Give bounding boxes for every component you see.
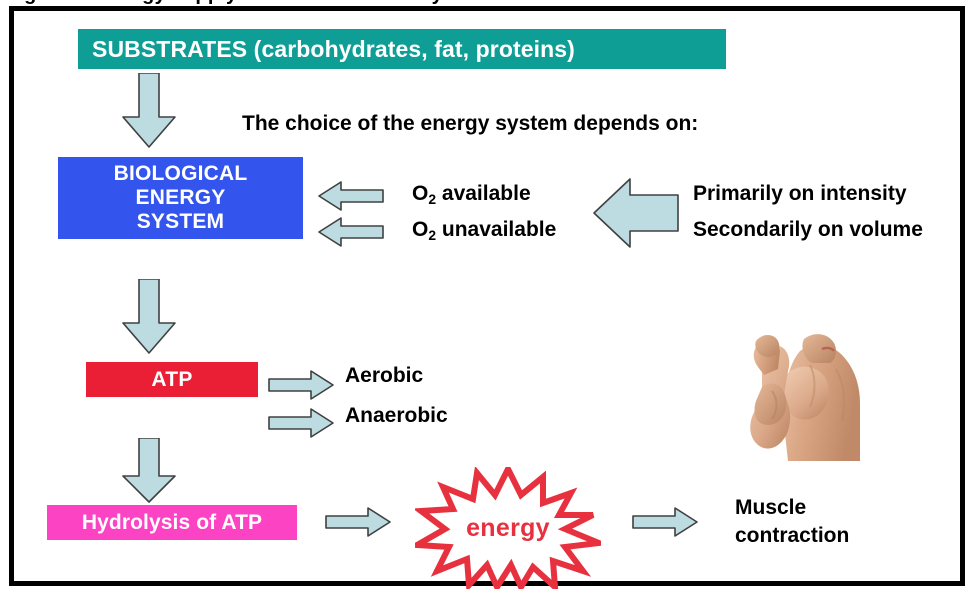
box-atp: ATP bbox=[86, 362, 258, 397]
bes-line-3: SYSTEM bbox=[137, 210, 225, 233]
label-o2-available: O2 available bbox=[412, 181, 531, 206]
heading-choice-of-energy-system: The choice of the energy system depends … bbox=[242, 111, 698, 136]
muscle-line-1: Muscle bbox=[735, 496, 806, 519]
o2-available-subscript: 2 bbox=[428, 191, 436, 207]
slide-canvas: Figure 1. Energy supply for muscular act… bbox=[0, 0, 980, 598]
arrow-right-atp-to-aerobic-icon bbox=[267, 369, 335, 401]
arrow-left-o2-unavailable-icon bbox=[317, 216, 385, 248]
starburst-energy-label: energy bbox=[415, 467, 601, 589]
label-anaerobic: Anaerobic bbox=[345, 403, 448, 428]
box-hydrolysis-label: Hydrolysis of ATP bbox=[82, 511, 262, 535]
label-o2-unavailable: O2 unavailable bbox=[412, 217, 556, 242]
bes-line-1: BIOLOGICAL bbox=[114, 162, 248, 185]
box-hydrolysis-of-atp: Hydrolysis of ATP bbox=[47, 505, 297, 540]
arrow-right-atp-to-anaerobic-icon bbox=[267, 407, 335, 439]
label-primarily-on-intensity: Primarily on intensity bbox=[693, 181, 907, 206]
o2-available-rest: available bbox=[436, 182, 531, 205]
box-substrates: SUBSTRATES (carbohydrates, fat, proteins… bbox=[78, 29, 726, 69]
box-atp-label: ATP bbox=[151, 368, 192, 392]
arrow-left-o2-available-icon bbox=[317, 180, 385, 212]
box-substrates-label: SUBSTRATES (carbohydrates, fat, proteins… bbox=[92, 36, 575, 62]
arrow-down-atp-to-hydrolysis-icon bbox=[121, 438, 177, 504]
arrow-right-hydrolysis-to-energy-icon bbox=[324, 506, 392, 538]
bes-line-2: ENERGY bbox=[136, 186, 226, 209]
diagram-frame: SUBSTRATES (carbohydrates, fat, proteins… bbox=[9, 6, 965, 586]
arrow-right-energy-to-muscle-icon bbox=[631, 506, 699, 538]
starburst-energy: energy bbox=[415, 467, 601, 589]
arrow-left-intensity-volume-icon bbox=[592, 177, 680, 249]
cutoff-title-text: Figure 1. Energy supply for muscular act… bbox=[6, 0, 443, 5]
cutoff-title-sliver: Figure 1. Energy supply for muscular act… bbox=[0, 0, 980, 5]
box-biological-energy-system-label: BIOLOGICAL ENERGY SYSTEM bbox=[114, 162, 248, 234]
o2-unavailable-o: O bbox=[412, 218, 428, 241]
label-muscle-contraction: Muscle contraction bbox=[735, 494, 849, 551]
o2-unavailable-rest: unavailable bbox=[436, 218, 556, 241]
arrow-down-substrates-to-system-icon bbox=[121, 73, 177, 149]
o2-available-o: O bbox=[412, 182, 428, 205]
label-secondarily-on-volume: Secondarily on volume bbox=[693, 217, 923, 242]
bodybuilder-flexing-bicep-photo bbox=[726, 329, 884, 461]
muscle-line-2: contraction bbox=[735, 524, 849, 547]
box-biological-energy-system: BIOLOGICAL ENERGY SYSTEM bbox=[58, 157, 303, 239]
label-aerobic: Aerobic bbox=[345, 363, 423, 388]
arrow-down-system-to-atp-icon bbox=[121, 279, 177, 355]
o2-unavailable-subscript: 2 bbox=[428, 227, 436, 243]
